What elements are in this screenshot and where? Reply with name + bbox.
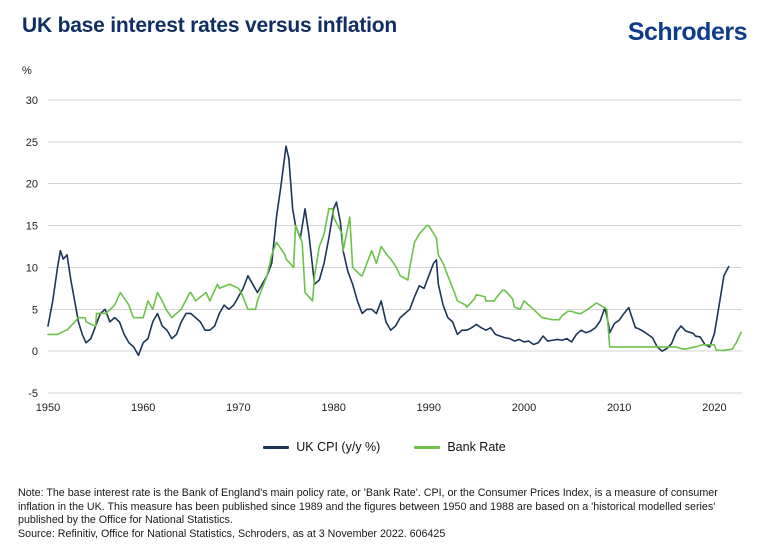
series-line-bank-rate (48, 209, 741, 350)
y-tick-label: 20 (26, 179, 38, 191)
x-tick-label: 2020 (702, 402, 726, 414)
y-tick-label: 10 (26, 262, 38, 274)
legend-swatch-bank-rate (414, 446, 440, 449)
footnote-note: Note: The base interest rate is the Bank… (18, 487, 753, 528)
y-tick-label: 5 (32, 304, 38, 316)
x-tick-label: 2000 (512, 402, 536, 414)
footnote-source: Source: Refinitiv, Office for National S… (18, 528, 753, 542)
legend-swatch-cpi (263, 446, 289, 449)
footnotes: Note: The base interest rate is the Bank… (18, 487, 753, 541)
y-tick-label: 25 (26, 137, 38, 149)
legend-item-bank-rate[interactable]: Bank Rate (414, 440, 505, 454)
legend-label-cpi: UK CPI (y/y %) (296, 440, 380, 454)
data-series-group (48, 146, 741, 355)
y-tick-label: 0 (32, 346, 38, 358)
series-line-cpi (48, 146, 729, 355)
x-tick-label: 1980 (321, 402, 345, 414)
chart-page: UK base interest rates versus inflation … (0, 0, 769, 545)
x-tick-label: 1950 (36, 402, 60, 414)
chart-plot-area: -5051015202530 1950196019701980199020002… (0, 0, 769, 425)
x-tick-label: 1970 (226, 402, 250, 414)
x-tick-label: 1990 (417, 402, 441, 414)
legend-item-cpi[interactable]: UK CPI (y/y %) (263, 440, 380, 454)
y-tick-label: -5 (28, 388, 38, 400)
y-tick-label: 15 (26, 221, 38, 233)
line-chart-svg: -5051015202530 1950196019701980199020002… (0, 0, 769, 425)
x-tick-label: 2010 (607, 402, 631, 414)
x-axis-tick-labels: 19501960197019801990200020102020 (36, 402, 727, 414)
chart-legend: UK CPI (y/y %) Bank Rate (0, 440, 769, 454)
y-tick-label: 30 (26, 95, 38, 107)
x-tick-label: 1960 (131, 402, 155, 414)
y-axis-tick-labels: -5051015202530 (26, 95, 38, 400)
legend-label-bank-rate: Bank Rate (447, 440, 505, 454)
gridlines-group (48, 100, 742, 393)
